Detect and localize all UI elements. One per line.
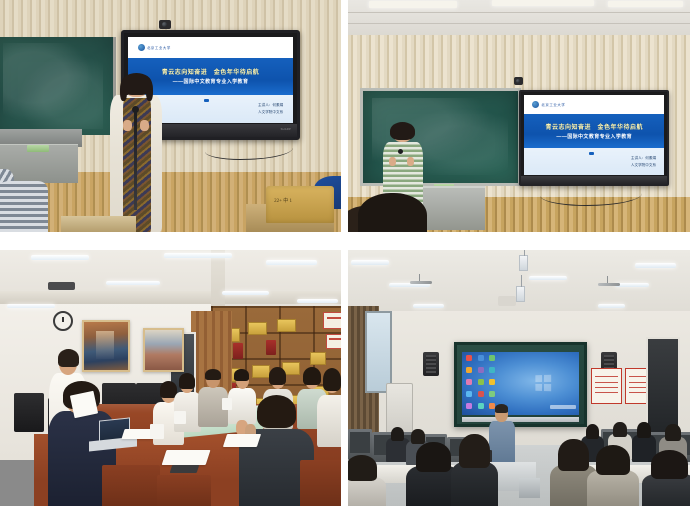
award-plaque (277, 319, 296, 333)
foreground-student (642, 450, 690, 506)
person-hair (58, 349, 79, 367)
slide-footer: 主讲人：何素娟 人文学院中文系 (524, 148, 664, 174)
student-hair (665, 424, 680, 441)
windows-logo-icon (535, 375, 551, 392)
ceiling (348, 0, 690, 35)
logo-mark-icon (138, 44, 145, 51)
ceiling-light (164, 253, 232, 258)
person-hair (205, 369, 221, 380)
presenter-name: 主讲人：何素娟 (258, 102, 283, 108)
slide-bullet-icon (204, 99, 209, 102)
certificate (326, 334, 341, 349)
phone (169, 465, 199, 473)
university-logo: 北京工业大学 (532, 101, 565, 108)
presenter-name: 主讲人：何素娟 (631, 155, 656, 161)
student-hair (459, 434, 490, 468)
ceiling-light (608, 1, 683, 7)
ceiling-light (492, 0, 595, 6)
student-torso (587, 470, 638, 506)
ceiling-light (7, 304, 55, 308)
ceiling-light (389, 283, 430, 287)
chair (300, 460, 341, 506)
presentation-slide: 北京工业大学 青云志向知奋进 金色年华待启航 ——国际中文教育专业入学教育 主讲… (524, 95, 664, 174)
camera-icon (159, 20, 171, 29)
logo-text: 北京工业大学 (541, 102, 565, 107)
presenter-dept: 人文学院中文系 (258, 109, 283, 115)
microphone-stand (134, 111, 137, 210)
ceiling-light (413, 304, 444, 308)
smart-display: 北京工业大学 青云志向知奋进 金色年华待启航 ——国际中文教育专业入学教育 主讲… (519, 90, 669, 185)
trophy-box (233, 343, 243, 358)
slide-title: 青云志向知奋进 金色年华待启航 (545, 122, 643, 131)
slide-header: 北京工业大学 (128, 37, 293, 58)
chair (14, 393, 45, 431)
slide-subtitle: ——国际中文教育专业入学教育 (556, 133, 632, 140)
student-torso (348, 477, 386, 506)
photo-top-left[interactable]: 北京工业大学 青云志向知奋进 金色年华待启航 ——国际中文教育专业入学教育 主讲… (0, 0, 341, 232)
student-hair (391, 427, 404, 441)
screen-frame-bottom (462, 417, 579, 422)
slide-bullet-icon (589, 152, 594, 155)
person-hair (257, 395, 296, 428)
person-hair (179, 373, 195, 389)
door (646, 337, 680, 434)
chair (157, 475, 212, 506)
award-plaque (310, 352, 326, 364)
table-paper (223, 434, 261, 447)
speaker-person (102, 77, 170, 232)
blackboard (0, 37, 116, 134)
microphone-icon (398, 149, 403, 154)
display-brand: SHARP (281, 128, 291, 131)
projector-icon (498, 296, 515, 306)
person-hair (234, 369, 249, 381)
foreground-student (587, 445, 638, 506)
photo-bottom-right[interactable] (348, 250, 690, 506)
ceiling-light (266, 260, 317, 265)
pendant-light (516, 286, 525, 302)
chair-marking-text: 22+ 中 1 (274, 197, 292, 204)
notice-board-left (591, 368, 622, 404)
ceiling-fan-icon (410, 281, 432, 284)
speaker-hand-right (407, 157, 414, 166)
university-logo: 北京工业大学 (138, 44, 171, 51)
photo-top-right[interactable]: 北京工业大学 青云志向知奋进 金色年华待启航 ——国际中文教育专业入学教育 主讲… (348, 0, 690, 232)
photo-collage: 北京工业大学 青云志向知奋进 金色年华待启航 ——国际中文教育专业入学教育 主讲… (0, 0, 690, 506)
table-paper (161, 450, 210, 465)
student-hair (651, 450, 688, 479)
ceiling-light (31, 255, 89, 260)
slide-title-band: 青云志向知奋进 金色年华待启航 ——国际中文教育专业入学教育 (524, 114, 664, 148)
ceiling-light (615, 283, 649, 287)
slide-credits: 主讲人：何素娟 人文学院中文系 (258, 102, 283, 115)
ceiling-light (529, 276, 567, 280)
foreground-student (0, 181, 48, 232)
security-camera-icon (48, 282, 75, 290)
paper-cup (174, 411, 186, 424)
ceiling-light (297, 299, 338, 303)
slide-title: 青云志向知奋进 金色年华待启航 (162, 67, 260, 76)
student-hair (416, 442, 451, 472)
photo-bottom-left[interactable] (0, 250, 341, 506)
slide-credits: 主讲人：何素娟 人文学院中文系 (631, 155, 656, 168)
eraser (27, 145, 49, 152)
slide-subtitle: ——国际中文教育专业入学教育 (173, 78, 249, 85)
logo-mark-icon (532, 101, 539, 108)
framed-painting-left (82, 320, 130, 371)
speaker-hand-right (140, 120, 149, 131)
wooden-chair: 22+ 中 1 (266, 186, 334, 223)
chair (102, 465, 160, 506)
student-hair (558, 439, 589, 471)
camera-icon (514, 77, 523, 85)
screen-notification (550, 405, 576, 409)
certificate (323, 312, 341, 329)
ceiling-beam (0, 291, 341, 304)
foreground-student (348, 455, 386, 506)
wall-speaker-left (423, 352, 439, 376)
slide-header: 北京工业大学 (524, 95, 664, 114)
presenter-dept: 人文学院中文系 (631, 162, 656, 168)
speaker-hair (121, 73, 152, 95)
foreground-student-a (358, 193, 426, 232)
student-hair (586, 424, 599, 439)
ceiling-fan-icon (598, 283, 620, 286)
pendant-light (519, 255, 528, 271)
framed-painting-right (143, 328, 184, 372)
ceiling-light (369, 1, 458, 8)
student-hair (596, 445, 631, 476)
speaker-hand-left (123, 120, 132, 131)
student-hair (613, 422, 626, 437)
trophy-box (266, 340, 276, 355)
speaker-patterned-scarf (123, 98, 152, 232)
student-torso (451, 462, 499, 506)
ceiling-light (598, 304, 625, 308)
award-plaque (248, 322, 267, 336)
ceiling-light (635, 263, 676, 268)
window (365, 311, 392, 393)
person-hair (323, 368, 341, 391)
speaker-hair (390, 122, 415, 140)
projection-board (454, 342, 587, 426)
student-hair (348, 455, 377, 481)
front-desk (61, 216, 136, 232)
paper-cup (222, 398, 232, 410)
ceiling-light (351, 260, 389, 265)
seated-participant (317, 370, 341, 447)
student-hair (637, 422, 650, 438)
display-screen: 北京工业大学 青云志向知奋进 金色年华待启航 ——国际中文教育专业入学教育 主讲… (524, 95, 664, 174)
stool (519, 478, 540, 498)
logo-text: 北京工业大学 (147, 45, 171, 50)
foreground-student (451, 434, 499, 506)
person-torso (317, 395, 341, 447)
ceiling-light (222, 291, 270, 295)
projection-screen (462, 352, 579, 415)
ceiling-light (106, 281, 161, 285)
lecturer-hair (495, 404, 509, 413)
paper-cup (150, 424, 164, 439)
person-hair (269, 367, 287, 385)
desktop-icons[interactable] (466, 355, 499, 413)
